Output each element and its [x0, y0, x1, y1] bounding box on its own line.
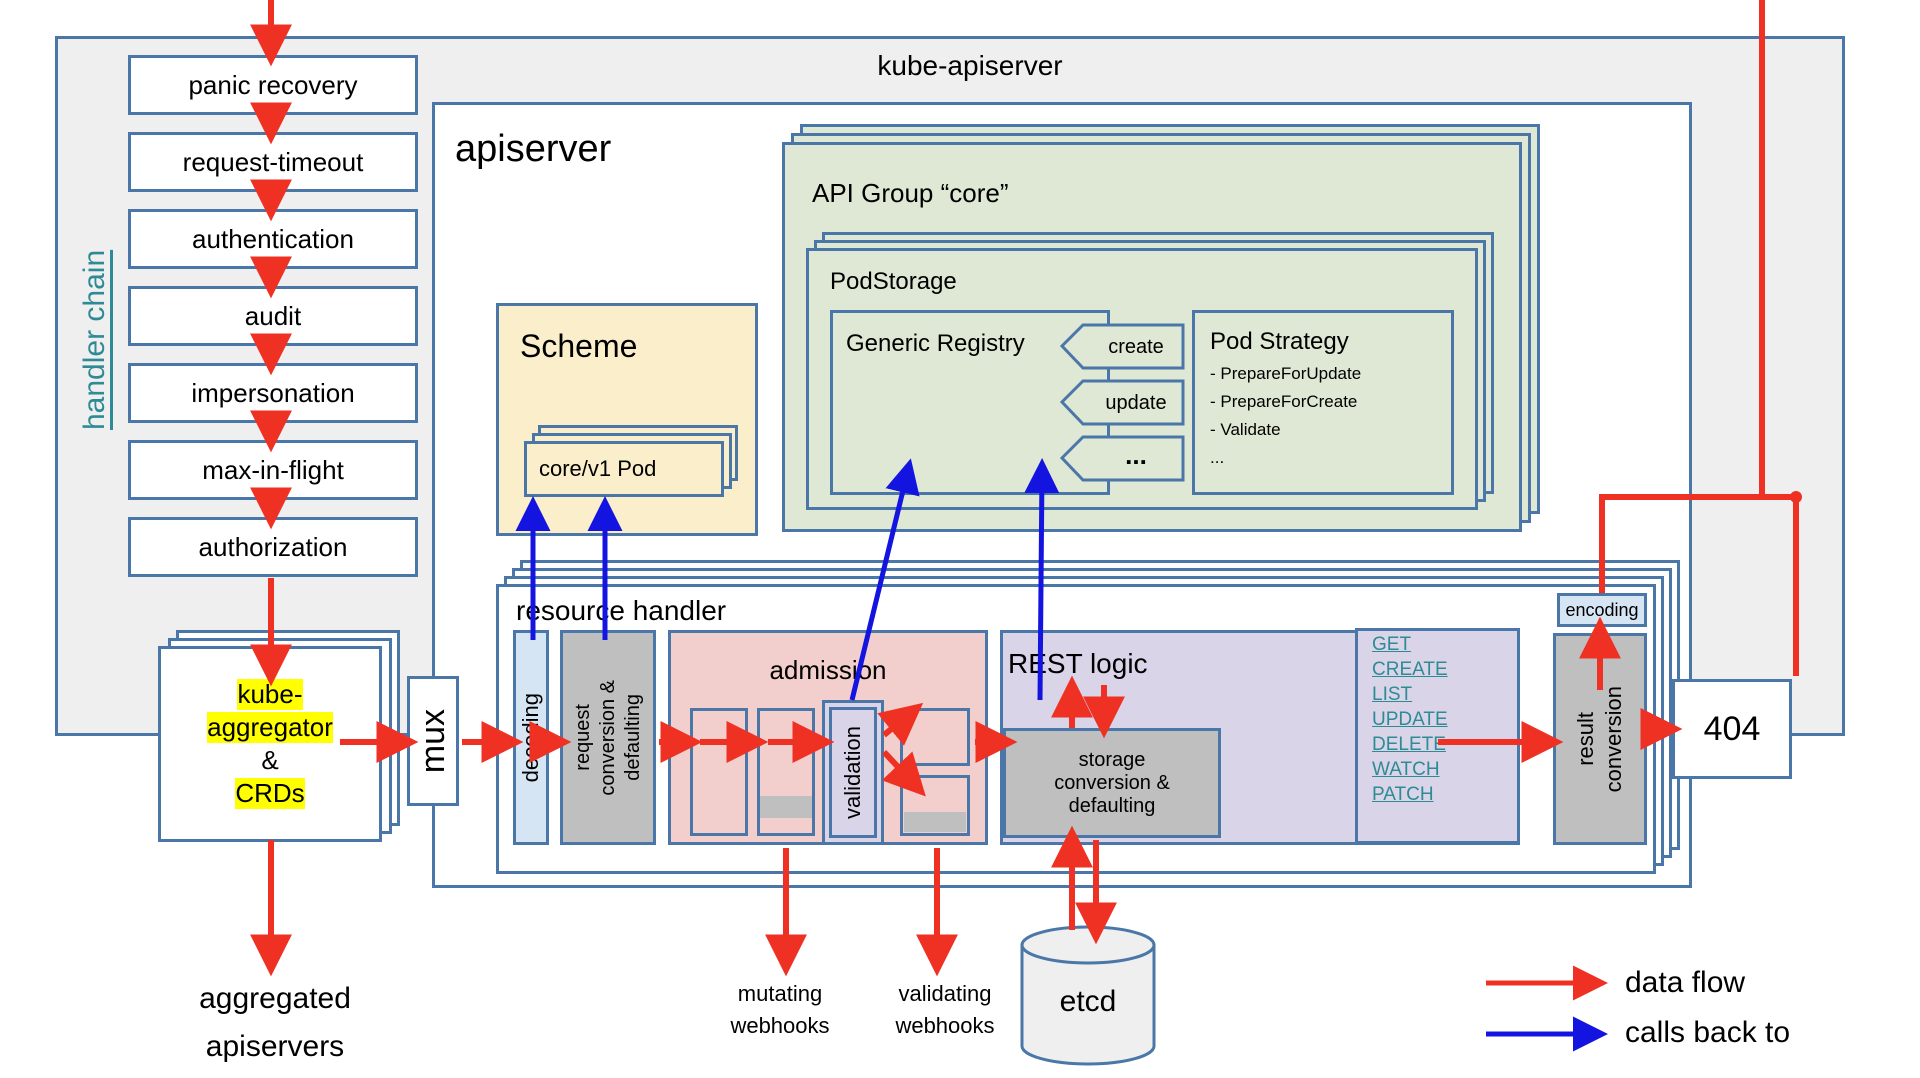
decoding-box[interactable]: decoding	[513, 630, 549, 845]
aggregator-label-amp: &	[261, 745, 278, 776]
storage-conversion-line3: defaulting	[1069, 795, 1156, 818]
aggregated-apiservers-line2: apiservers	[130, 1023, 420, 1071]
legend-calls-back-label: calls back to	[1625, 1016, 1905, 1050]
result-conversion-line2: conversion	[1601, 686, 1627, 792]
aggregated-apiservers-line1: aggregated	[130, 975, 420, 1023]
error-404-box[interactable]: 404	[1672, 679, 1792, 779]
handler-authorization[interactable]: authorization	[128, 517, 418, 577]
rest-verb-delete[interactable]: DELETE	[1372, 732, 1446, 757]
aggregator-label-line1: kube-	[237, 679, 302, 710]
handler-request-timeout[interactable]: request-timeout	[128, 132, 418, 192]
mutating-webhooks-label: mutating webhooks	[690, 978, 870, 1042]
pod-strategy-item-3: ...	[1210, 448, 1450, 468]
result-conversion-line1: result	[1573, 712, 1599, 766]
handler-impersonation[interactable]: impersonation	[128, 363, 418, 423]
scheme-entry-label: core/v1 Pod	[539, 456, 656, 482]
handler-max-in-flight[interactable]: max-in-flight	[128, 440, 418, 500]
handler-panic-recovery[interactable]: panic recovery	[128, 55, 418, 115]
admission-plugin-3[interactable]	[900, 708, 970, 766]
aggregator-label-line2: aggregator	[207, 712, 333, 743]
aggregated-apiservers-label: aggregated apiservers	[130, 975, 420, 1071]
rest-verb-patch[interactable]: PATCH	[1372, 782, 1434, 807]
aggregator-label-crds: CRDs	[235, 778, 304, 809]
api-group-title: API Group “core”	[812, 178, 1212, 209]
admission-plugin-2-webhook-slot	[760, 796, 812, 818]
rest-verb-create[interactable]: CREATE	[1372, 657, 1448, 682]
rest-verbs-list: GET CREATE LIST UPDATE DELETE WATCH PATC…	[1372, 632, 1512, 807]
mux-box[interactable]: mux	[407, 676, 459, 806]
request-conversion-line3: defaulting	[622, 694, 645, 781]
storage-conversion-box[interactable]: storage conversion & defaulting	[1003, 728, 1221, 838]
rest-verb-update[interactable]: UPDATE	[1372, 707, 1448, 732]
diagram-canvas: kube-apiserver apiserver handler chain p…	[0, 0, 1920, 1078]
admission-title: admission	[668, 655, 988, 686]
mutating-webhooks-line1: mutating	[690, 978, 870, 1010]
validating-webhooks-line2: webhooks	[855, 1010, 1035, 1042]
resource-handler-title: resource handler	[516, 595, 916, 627]
admission-plugin-4-webhook-slot	[904, 812, 966, 832]
rest-verb-list[interactable]: LIST	[1372, 682, 1412, 707]
pod-strategy-title: Pod Strategy	[1210, 328, 1450, 356]
error-404-label: 404	[1704, 710, 1761, 749]
rest-logic-title: REST logic	[1008, 648, 1268, 680]
validating-webhooks-label: validating webhooks	[855, 978, 1035, 1042]
pod-strategy-item-0: - PrepareForUpdate	[1210, 364, 1450, 384]
connector-create-label[interactable]: create	[1088, 336, 1184, 359]
admission-plugin-1[interactable]	[690, 708, 748, 836]
scheme-entry-core-v1-pod[interactable]: core/v1 Pod	[524, 441, 724, 497]
request-conversion-line1: request	[572, 704, 595, 771]
pod-storage-title: PodStorage	[830, 268, 1130, 296]
generic-registry-label: Generic Registry	[846, 330, 1106, 358]
encoding-label: encoding	[1565, 600, 1638, 621]
handler-panic-recovery-label: panic recovery	[188, 70, 357, 101]
handler-authorization-label: authorization	[199, 532, 348, 563]
result-conversion-box[interactable]: result conversion	[1553, 633, 1647, 845]
etcd-top	[1022, 927, 1154, 963]
mutating-webhooks-line2: webhooks	[690, 1010, 870, 1042]
pod-strategy-item-1: - PrepareForCreate	[1210, 392, 1450, 412]
storage-conversion-line2: conversion &	[1054, 772, 1170, 795]
rest-verb-watch[interactable]: WATCH	[1372, 757, 1440, 782]
request-conversion-box[interactable]: request conversion & defaulting	[560, 630, 656, 845]
validating-webhooks-line1: validating	[855, 978, 1035, 1010]
encoding-box[interactable]: encoding	[1557, 593, 1647, 627]
admission-validation-label: validation	[840, 726, 866, 819]
connector-update-label[interactable]: update	[1088, 392, 1184, 415]
handler-max-in-flight-label: max-in-flight	[202, 455, 344, 486]
etcd-label: etcd	[1022, 985, 1154, 1019]
scheme-title: Scheme	[520, 328, 740, 365]
handler-chain-label: handler chain	[78, 170, 114, 430]
rest-verb-get[interactable]: GET	[1372, 632, 1411, 657]
kube-apiserver-title: kube-apiserver	[760, 50, 1180, 86]
handler-audit-label: audit	[245, 301, 301, 332]
handler-authentication[interactable]: authentication	[128, 209, 418, 269]
pod-strategy-item-2: - Validate	[1210, 420, 1450, 440]
mux-label: mux	[414, 709, 453, 773]
admission-validation-box[interactable]: validation	[829, 707, 877, 838]
apiserver-title: apiserver	[455, 128, 785, 178]
handler-authentication-label: authentication	[192, 224, 354, 255]
storage-conversion-line1: storage	[1079, 749, 1146, 772]
legend-data-flow-label: data flow	[1625, 966, 1905, 1000]
decoding-label: decoding	[518, 693, 544, 782]
request-conversion-line2: conversion &	[597, 680, 620, 796]
handler-audit[interactable]: audit	[128, 286, 418, 346]
aggregator-box[interactable]: kube- aggregator & CRDs	[158, 646, 382, 842]
handler-request-timeout-label: request-timeout	[183, 147, 364, 178]
handler-impersonation-label: impersonation	[191, 378, 354, 409]
connector-ellipsis-label[interactable]: ...	[1088, 440, 1184, 471]
